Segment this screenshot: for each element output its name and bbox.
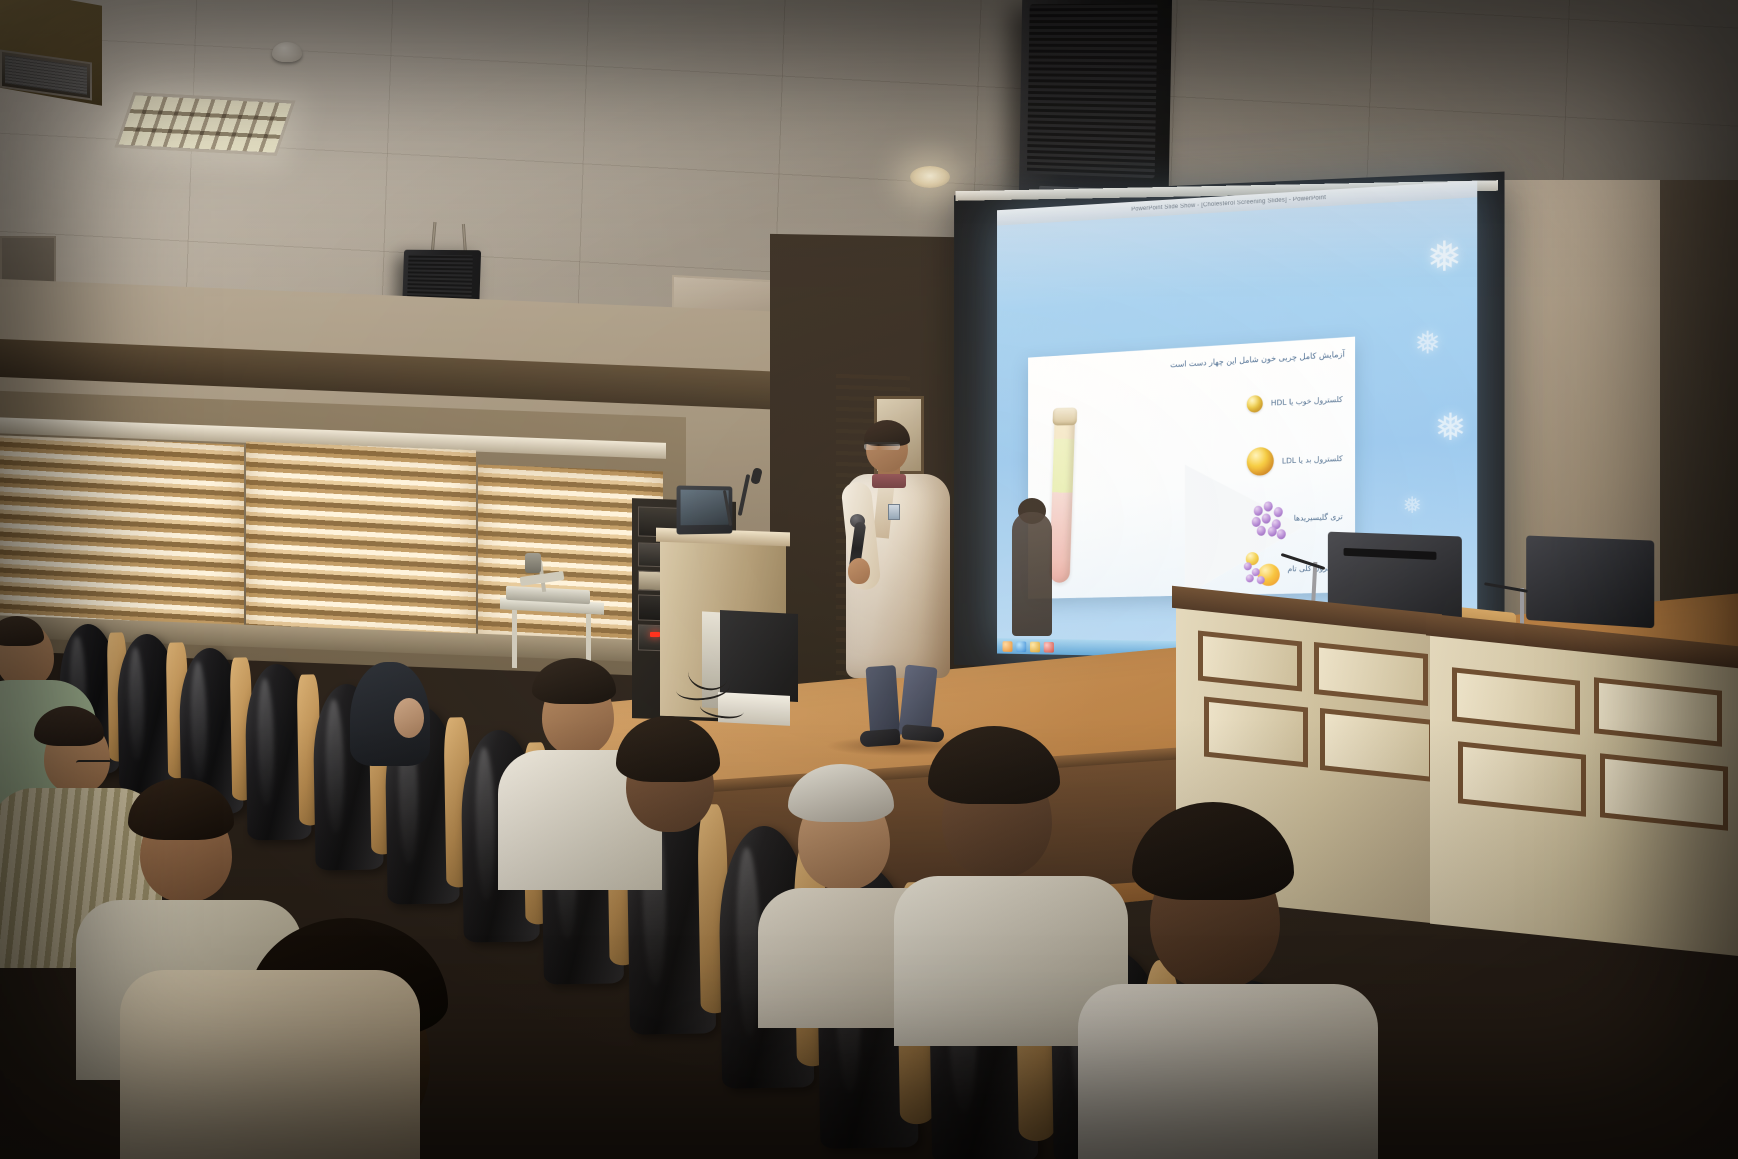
audience-person: [1114, 800, 1344, 1159]
person-hair: [0, 616, 44, 646]
person-hair: [1132, 802, 1294, 900]
audience-person: [344, 662, 448, 782]
person-face: [394, 698, 424, 738]
person-hair: [128, 778, 234, 840]
lecture-hall-photo: PowerPoint Slide Show - [Cholesterol Scr…: [0, 0, 1738, 1159]
person-shoulders: [1078, 984, 1378, 1159]
person-hair: [34, 706, 104, 746]
eyeglasses-icon: [76, 760, 112, 769]
audience: [0, 0, 1738, 1159]
audience-person: [920, 724, 1100, 1024]
audience-person: [606, 716, 756, 926]
person-hair: [532, 658, 616, 704]
person-hair: [788, 764, 894, 822]
person-hair: [928, 726, 1060, 804]
person-hair: [616, 716, 720, 782]
person-shoulders: [120, 970, 420, 1159]
audience-person: [120, 930, 420, 1159]
